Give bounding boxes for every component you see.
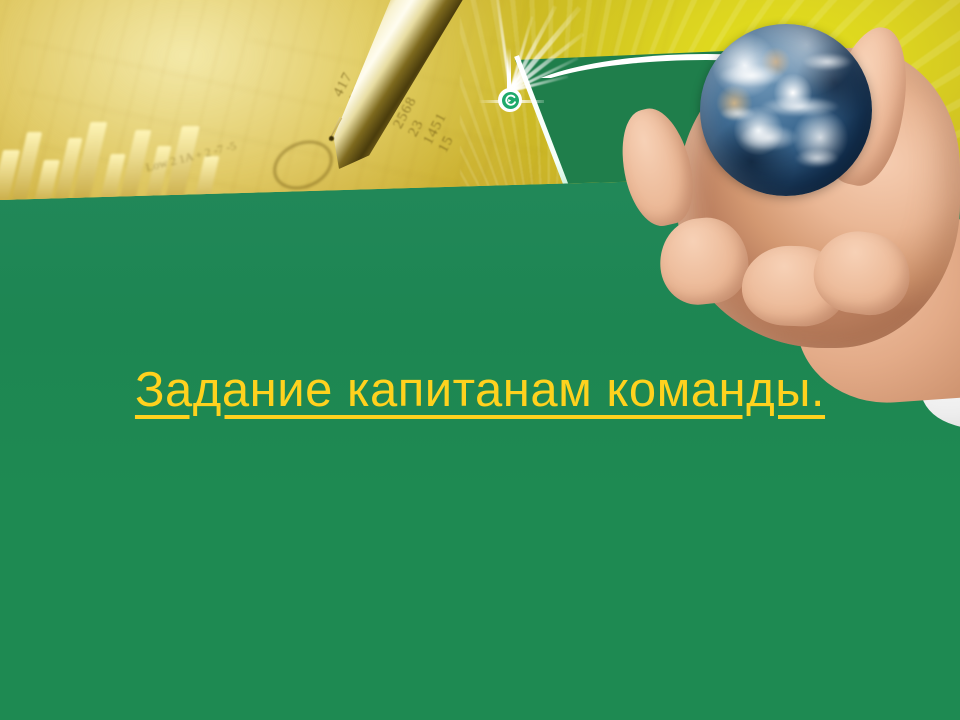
globe-cloud-layer: [700, 24, 872, 196]
green-circle-logo: [498, 88, 522, 112]
title-block: Задание капитанам команды.: [0, 360, 960, 420]
earth-globe: [700, 24, 872, 196]
slide-title: Задание капитанам команды.: [135, 360, 825, 420]
hand-holding-globe: [600, 0, 960, 410]
slide-canvas: 417 4035 20183 13 2568 23 1451 15 Low 2 …: [0, 0, 960, 720]
figure-label: + 2: [194, 145, 213, 162]
badge-inner-disc: [502, 92, 519, 109]
pen-icon: [272, 0, 422, 164]
pen-contact-point: [329, 136, 334, 141]
arrow-glyph-icon: [504, 94, 517, 107]
